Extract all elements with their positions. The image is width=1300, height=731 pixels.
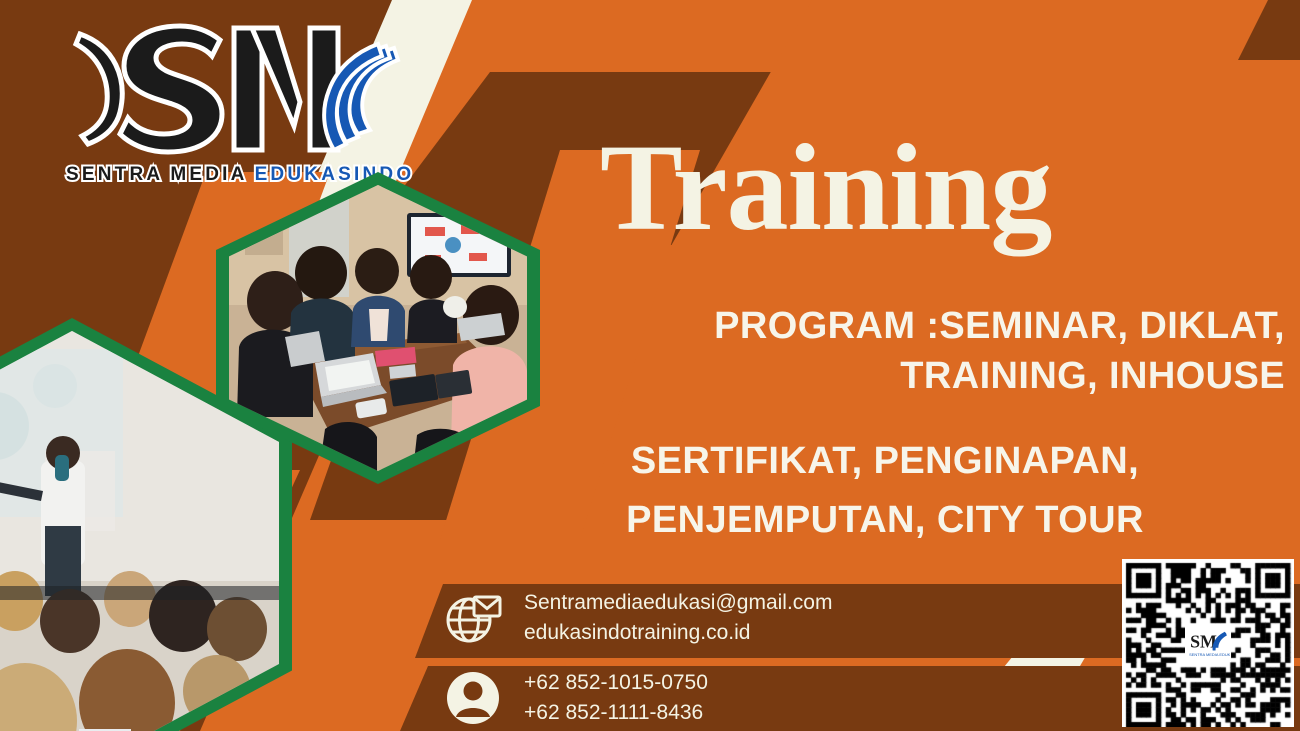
- logo-letter-s: [120, 26, 222, 152]
- meeting-photo-frame: [216, 172, 540, 484]
- svg-text:SENTRA MEDIA EDUKASINDO: SENTRA MEDIA EDUKASINDO: [1189, 652, 1230, 657]
- phone-number-2[interactable]: +62 852-1111-8436: [524, 698, 708, 728]
- email-address[interactable]: Sentramediaedukasi@gmail.com: [524, 588, 832, 618]
- program-list: PROGRAM :SEMINAR, DIKLAT, TRAINING, INHO…: [565, 301, 1285, 401]
- qr-center-logo: SM SENTRA MEDIA EDUKASINDO: [1185, 624, 1231, 662]
- services-line-1: SERTIFIKAT, PENGINAPAN,: [565, 432, 1205, 491]
- email-contact-row: Sentramediaedukasi@gmail.com edukasindot…: [444, 588, 832, 649]
- wordmark-sentra: SENTRA: [66, 164, 163, 186]
- globe-envelope-icon: [444, 589, 502, 647]
- company-logo: SENTRA MEDIA EDUKASINDO: [62, 16, 407, 184]
- email-contact-text: Sentramediaedukasi@gmail.com edukasindot…: [524, 588, 832, 649]
- phone-number-1[interactable]: +62 852-1015-0750: [524, 668, 708, 698]
- hex-green-border: [216, 172, 540, 484]
- program-line-1: PROGRAM :SEMINAR, DIKLAT,: [565, 301, 1285, 351]
- phone-contact-text: +62 852-1015-0750 +62 852-1111-8436: [524, 668, 708, 729]
- training-promo-banner: SENTRA MEDIA EDUKASINDO: [0, 0, 1300, 731]
- page-title: Training: [600, 126, 1051, 250]
- qr-code-icon[interactable]: SM SENTRA MEDIA EDUKASINDO: [1122, 559, 1294, 727]
- services-line-2: PENJEMPUTAN, CITY TOUR: [565, 491, 1205, 550]
- meeting-photo: [229, 185, 527, 471]
- logo-swoosh: [76, 34, 122, 144]
- program-line-2: TRAINING, INHOUSE: [565, 351, 1285, 401]
- qr-sm-logo-icon: SM SENTRA MEDIA EDUKASINDO: [1186, 627, 1230, 659]
- phone-contact-row: +62 852-1015-0750 +62 852-1111-8436: [444, 668, 708, 729]
- services-list: SERTIFIKAT, PENGINAPAN, PENJEMPUTAN, CIT…: [565, 432, 1205, 550]
- person-icon: [444, 669, 502, 727]
- sm-book-logo-icon: [62, 16, 407, 156]
- website-url[interactable]: edukasindotraining.co.id: [524, 618, 832, 648]
